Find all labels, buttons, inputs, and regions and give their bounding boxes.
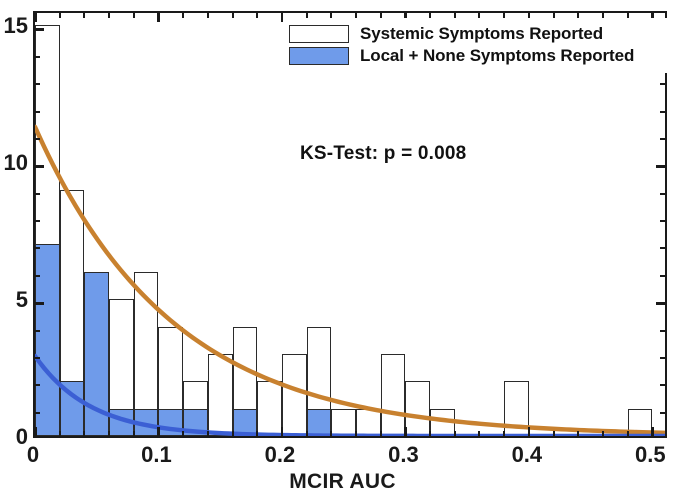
axis-ticks: [35, 13, 665, 436]
x-axis-tick-label: 0.2: [250, 444, 310, 466]
x-axis-tick: [478, 431, 480, 436]
y-axis-tick: [660, 412, 665, 414]
x-axis-tick: [108, 13, 110, 18]
x-axis-tick: [157, 427, 160, 436]
x-axis-tick: [83, 431, 85, 436]
plot-area: [33, 11, 667, 438]
x-axis-tick: [602, 431, 604, 436]
x-axis-tick: [256, 431, 258, 436]
x-axis-tick-label: 0.3: [373, 444, 433, 466]
x-axis-tick: [232, 431, 234, 436]
y-axis-tick: [35, 138, 40, 140]
x-axis-tick: [380, 431, 382, 436]
x-axis-tick: [34, 427, 37, 436]
y-axis-tick: [660, 275, 665, 277]
x-axis-tick: [207, 13, 209, 18]
x-axis-tick: [404, 427, 407, 436]
x-axis-tick: [330, 431, 332, 436]
legend-swatch-systemic: [289, 25, 349, 43]
legend-item-systemic: Systemic Symptoms Reported: [289, 24, 663, 44]
y-axis-tick: [660, 247, 665, 249]
legend: Systemic Symptoms Reported Local + None …: [285, 18, 667, 73]
y-axis-tick: [35, 111, 40, 113]
x-axis-tick: [281, 427, 284, 436]
x-axis-tick: [59, 13, 61, 18]
x-axis-tick: [232, 13, 234, 18]
legend-swatch-local-none: [289, 47, 349, 65]
y-axis-tick: [35, 83, 40, 85]
y-axis-tick-label: 15: [0, 15, 28, 37]
x-axis-tick: [553, 431, 555, 436]
y-axis-tick: [660, 220, 665, 222]
x-axis-tick-label: 0.4: [497, 444, 557, 466]
x-axis-tick: [429, 431, 431, 436]
x-axis-tick: [133, 431, 135, 436]
y-axis-tick: [35, 56, 40, 58]
y-axis-tick: [35, 28, 44, 31]
y-axis-tick: [660, 138, 665, 140]
y-axis-tick: [35, 220, 40, 222]
x-axis-tick: [306, 431, 308, 436]
x-axis-tick: [182, 431, 184, 436]
legend-label-local-none: Local + None Symptoms Reported: [360, 46, 634, 66]
y-axis-tick: [660, 193, 665, 195]
x-axis-tick: [182, 13, 184, 18]
x-axis-tick-label: 0: [3, 444, 63, 466]
x-axis-tick: [281, 13, 284, 22]
y-axis-tick: [656, 165, 665, 168]
histogram-figure: 051015 00.10.20.30.40.5 MCIR AUC Systemi…: [0, 0, 685, 504]
x-axis-tick: [355, 431, 357, 436]
x-axis-title: MCIR AUC: [0, 470, 685, 494]
x-axis-tick: [454, 431, 456, 436]
y-axis-tick: [656, 302, 665, 305]
x-axis-tick: [528, 427, 531, 436]
legend-label-systemic: Systemic Symptoms Reported: [360, 24, 603, 44]
y-axis-tick: [35, 330, 40, 332]
ks-test-annotation: KS-Test: p = 0.008: [300, 143, 466, 165]
y-axis-tick: [660, 330, 665, 332]
x-axis-tick: [59, 431, 61, 436]
y-axis-tick: [660, 384, 665, 386]
y-axis-tick: [660, 357, 665, 359]
x-axis-tick-label: 0.1: [126, 444, 186, 466]
y-axis-tick: [35, 165, 44, 168]
y-axis-tick: [35, 193, 40, 195]
x-axis-tick: [503, 431, 505, 436]
y-axis-tick: [35, 275, 40, 277]
legend-item-local-none: Local + None Symptoms Reported: [289, 46, 663, 66]
x-axis-tick: [157, 13, 160, 22]
y-axis-tick: [660, 83, 665, 85]
y-axis-tick: [35, 412, 40, 414]
x-axis-tick: [627, 431, 629, 436]
y-axis-tick: [35, 357, 40, 359]
x-axis-tick: [577, 431, 579, 436]
y-axis-tick-label: 10: [0, 152, 28, 174]
x-axis-tick: [83, 13, 85, 18]
x-axis-tick: [34, 13, 37, 22]
x-axis-tick: [651, 427, 654, 436]
y-axis-tick: [35, 384, 40, 386]
x-axis-tick: [133, 13, 135, 18]
x-axis-tick: [207, 431, 209, 436]
x-axis-tick: [256, 13, 258, 18]
y-axis-tick: [660, 111, 665, 113]
y-axis-tick-label: 5: [0, 289, 28, 311]
y-axis-tick: [35, 302, 44, 305]
y-axis-tick: [35, 247, 40, 249]
x-axis-tick: [108, 431, 110, 436]
x-axis-tick-label: 0.5: [620, 444, 680, 466]
